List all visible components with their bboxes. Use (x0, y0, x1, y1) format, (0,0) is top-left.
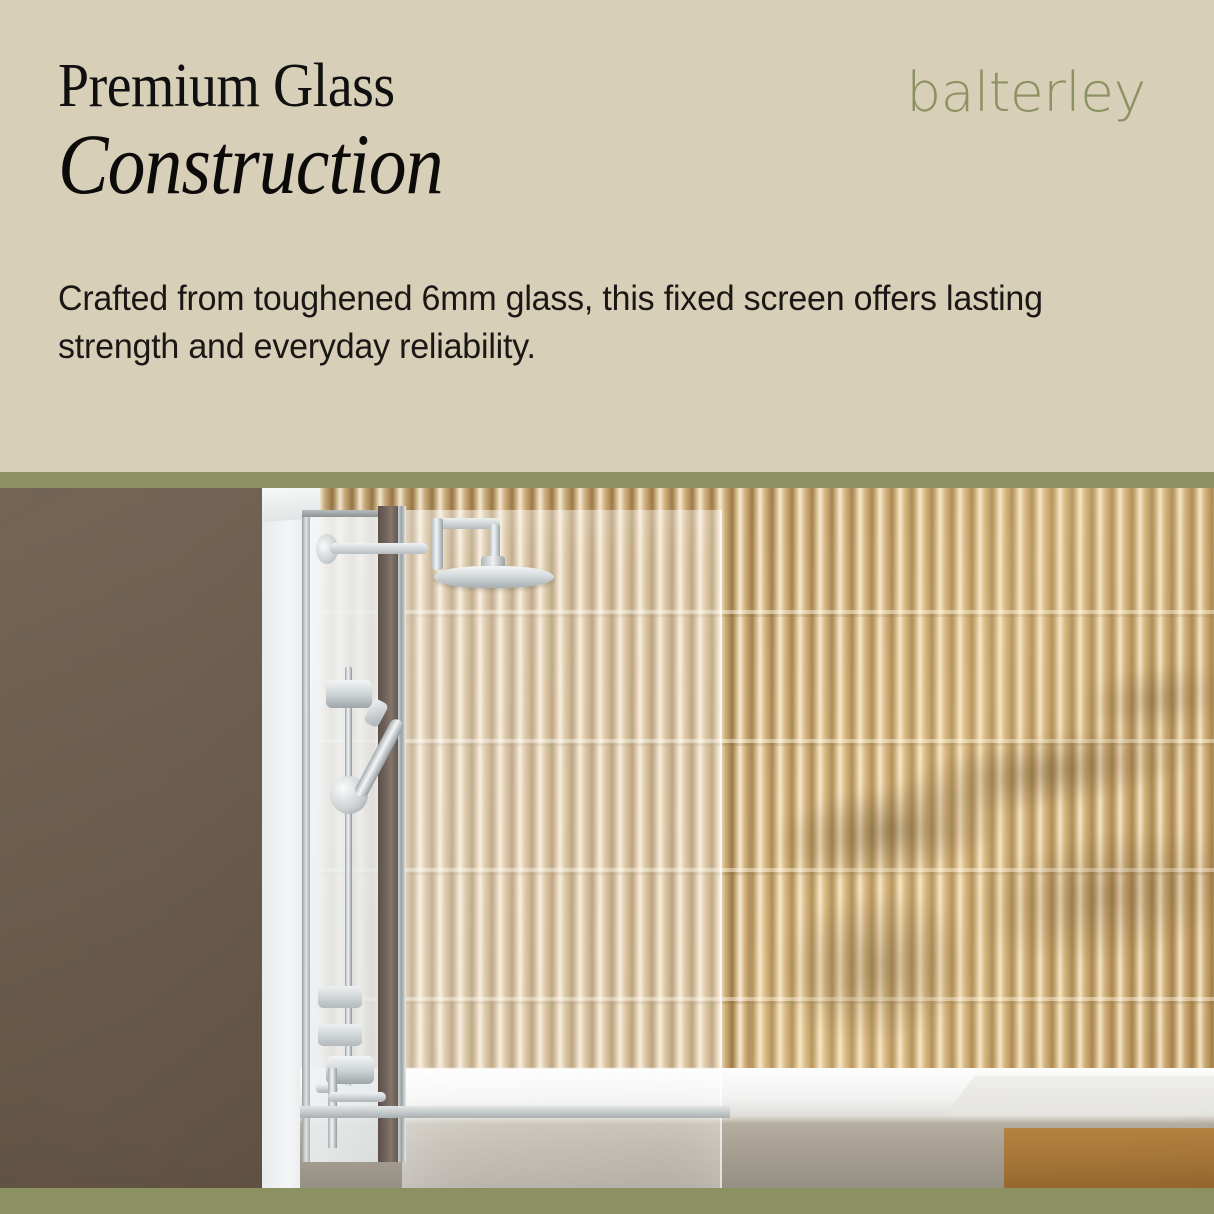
divider-rule-top (0, 472, 1214, 488)
product-feature-poster: Premium Glass Construction Crafted from … (0, 0, 1214, 1214)
rainfall-shower-head-icon (434, 566, 554, 588)
product-photo (0, 488, 1214, 1188)
shower-valve-upper (318, 986, 362, 1008)
door-frame-left (302, 510, 310, 1162)
floor-wood (1004, 1128, 1214, 1188)
shower-arm-rod (330, 543, 428, 554)
headline-block: Premium Glass Construction (58, 56, 838, 208)
divider-rule-bottom (0, 1188, 1214, 1214)
wall-left (0, 488, 268, 1188)
shower-arm-vertical (432, 518, 443, 570)
shower-valve-lower (318, 1024, 362, 1046)
headline-line-accent: Construction (58, 121, 744, 209)
riser-rail (345, 666, 352, 1086)
headline-line-primary: Premium Glass (58, 56, 760, 117)
screen-post-chrome-edge (398, 506, 406, 1162)
glass-screen (402, 510, 722, 1188)
text-panel: Premium Glass Construction Crafted from … (0, 0, 1214, 472)
riser-bracket-top (326, 680, 372, 708)
door-frame-top (302, 510, 382, 517)
screen-threshold (300, 1106, 730, 1118)
brand-logo: balterley (907, 66, 1146, 120)
bath-tap-spout (328, 1092, 386, 1102)
plant-shadow (710, 604, 1214, 1142)
subcopy-text: Crafted from toughened 6mm glass, this f… (58, 275, 1086, 372)
